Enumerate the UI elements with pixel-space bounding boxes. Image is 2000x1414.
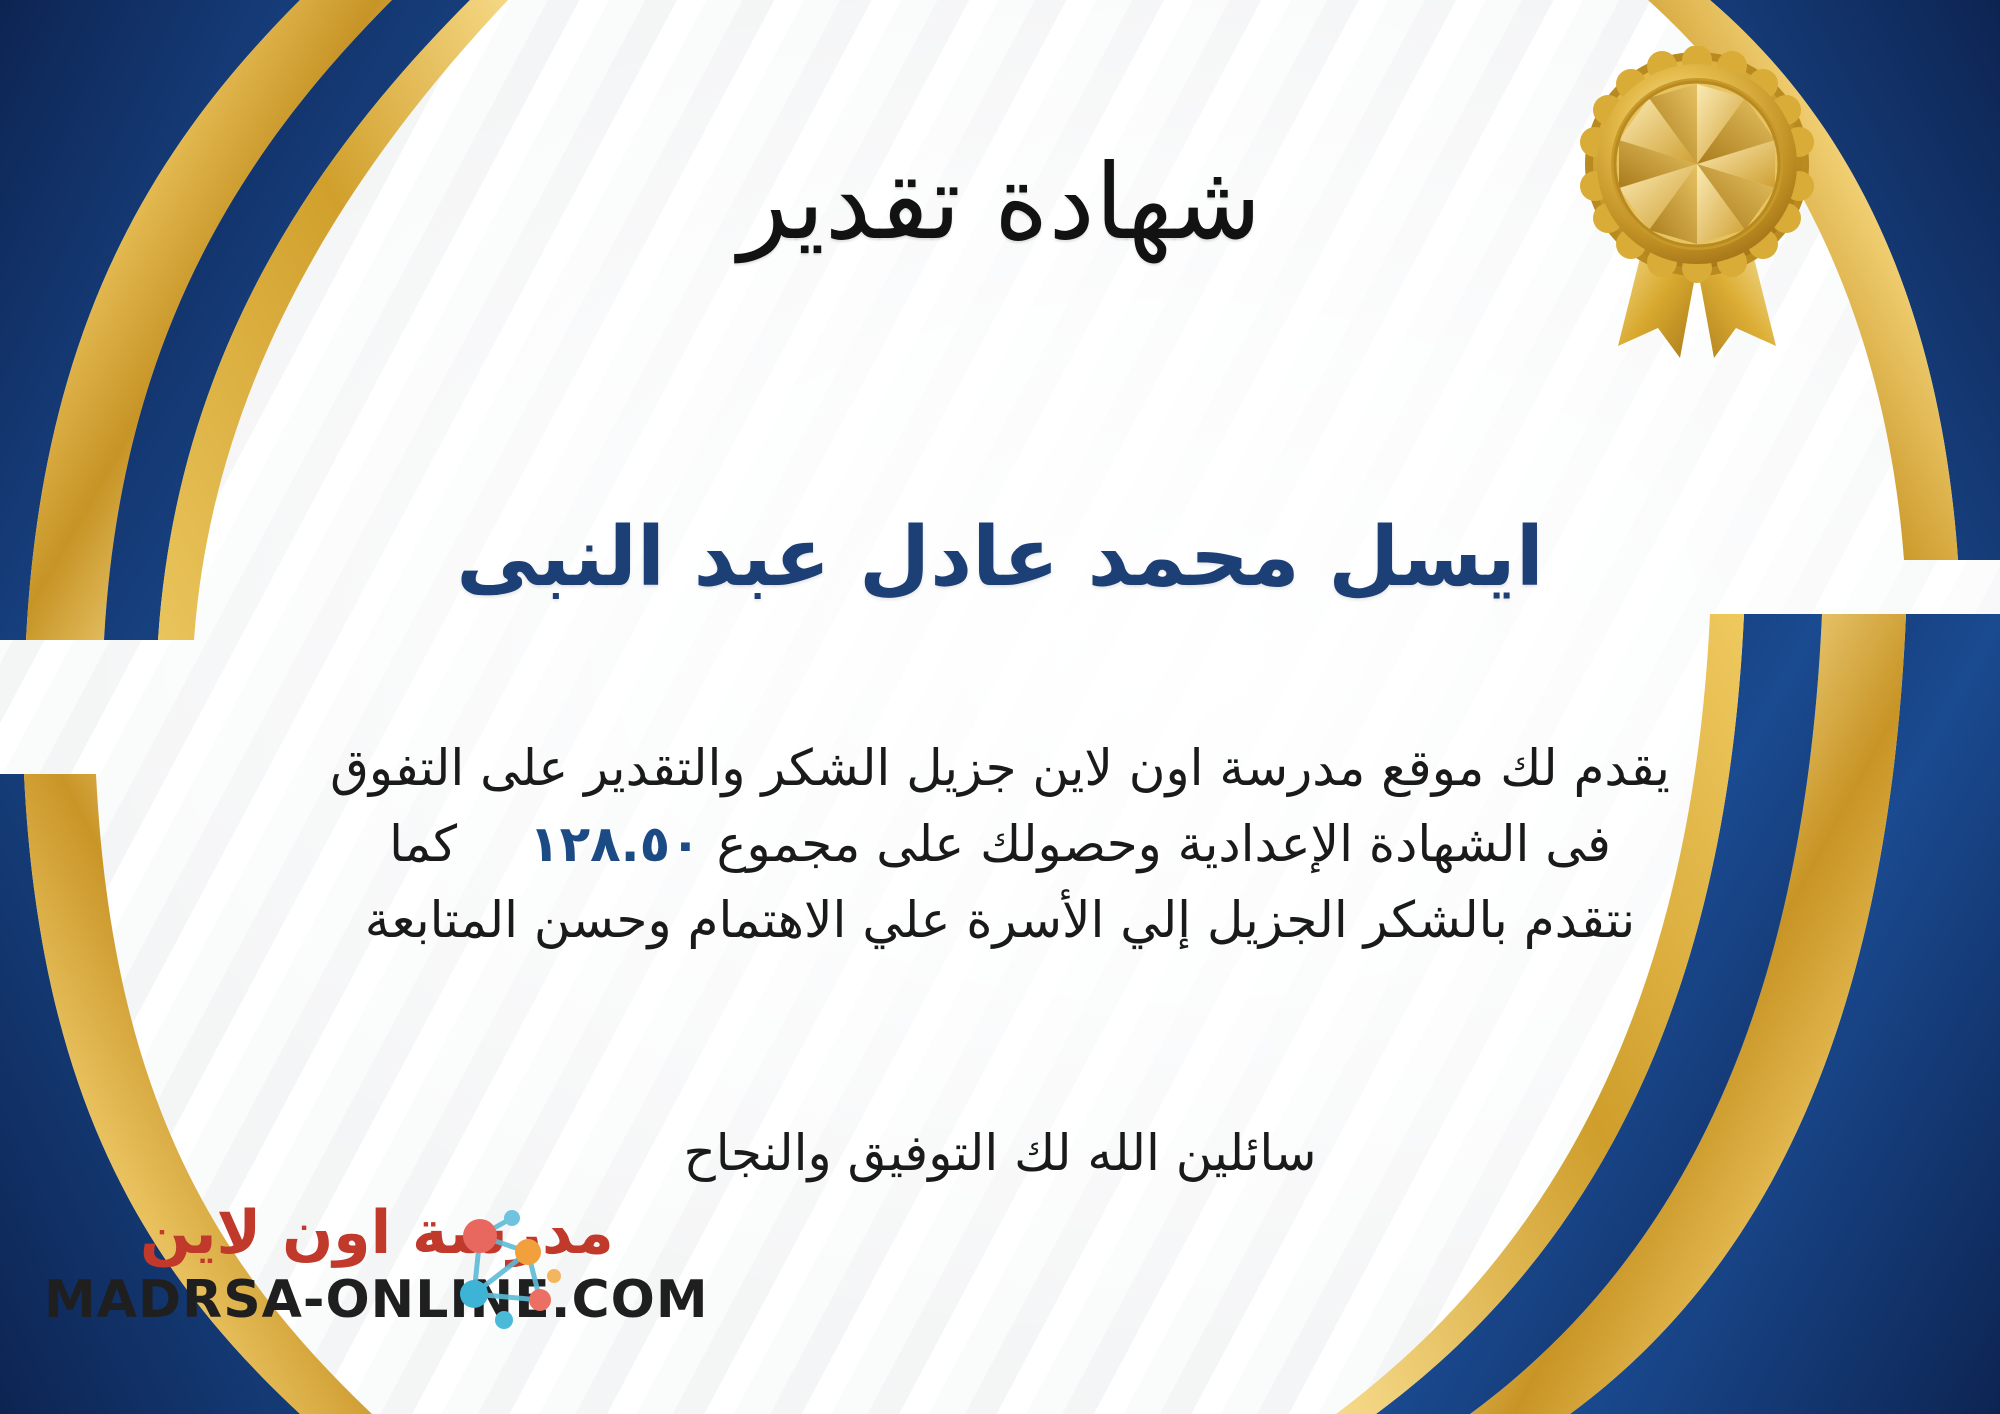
recipient-name: ايسل محمد عادل عبد النبى [0, 512, 2000, 604]
body-line-1: يقدم لك موقع مدرسة اون لاين جزيل الشكر و… [70, 730, 1930, 806]
body-line-2-before: فى الشهادة الإعدادية وحصولك على مجموع [717, 815, 1611, 873]
score-value: ١٢٨.٥٠ [513, 815, 717, 873]
body-line-2-after: كما [389, 815, 457, 873]
body-line-2: فى الشهادة الإعدادية وحصولك على مجموع١٢٨… [70, 806, 1930, 882]
certificate-body: يقدم لك موقع مدرسة اون لاين جزيل الشكر و… [70, 730, 1930, 958]
certificate: شهادة تقدير ايسل محمد عادل عبد النبى يقد… [0, 0, 2000, 1414]
closing-wish: سائلين الله لك التوفيق والنجاح [0, 1118, 2000, 1188]
brand-website-url: MADRSA-ONLINE.COM [44, 1270, 709, 1330]
network-nodes-icon [436, 1202, 576, 1342]
body-line-3: نتقدم بالشكر الجزيل إلي الأسرة علي الاهت… [70, 882, 1930, 958]
brand-logo[interactable]: مدرسة اون لاين MADRSA-ONLINE.COM [40, 1194, 560, 1364]
certificate-title: شهادة تقدير [0, 150, 2000, 254]
